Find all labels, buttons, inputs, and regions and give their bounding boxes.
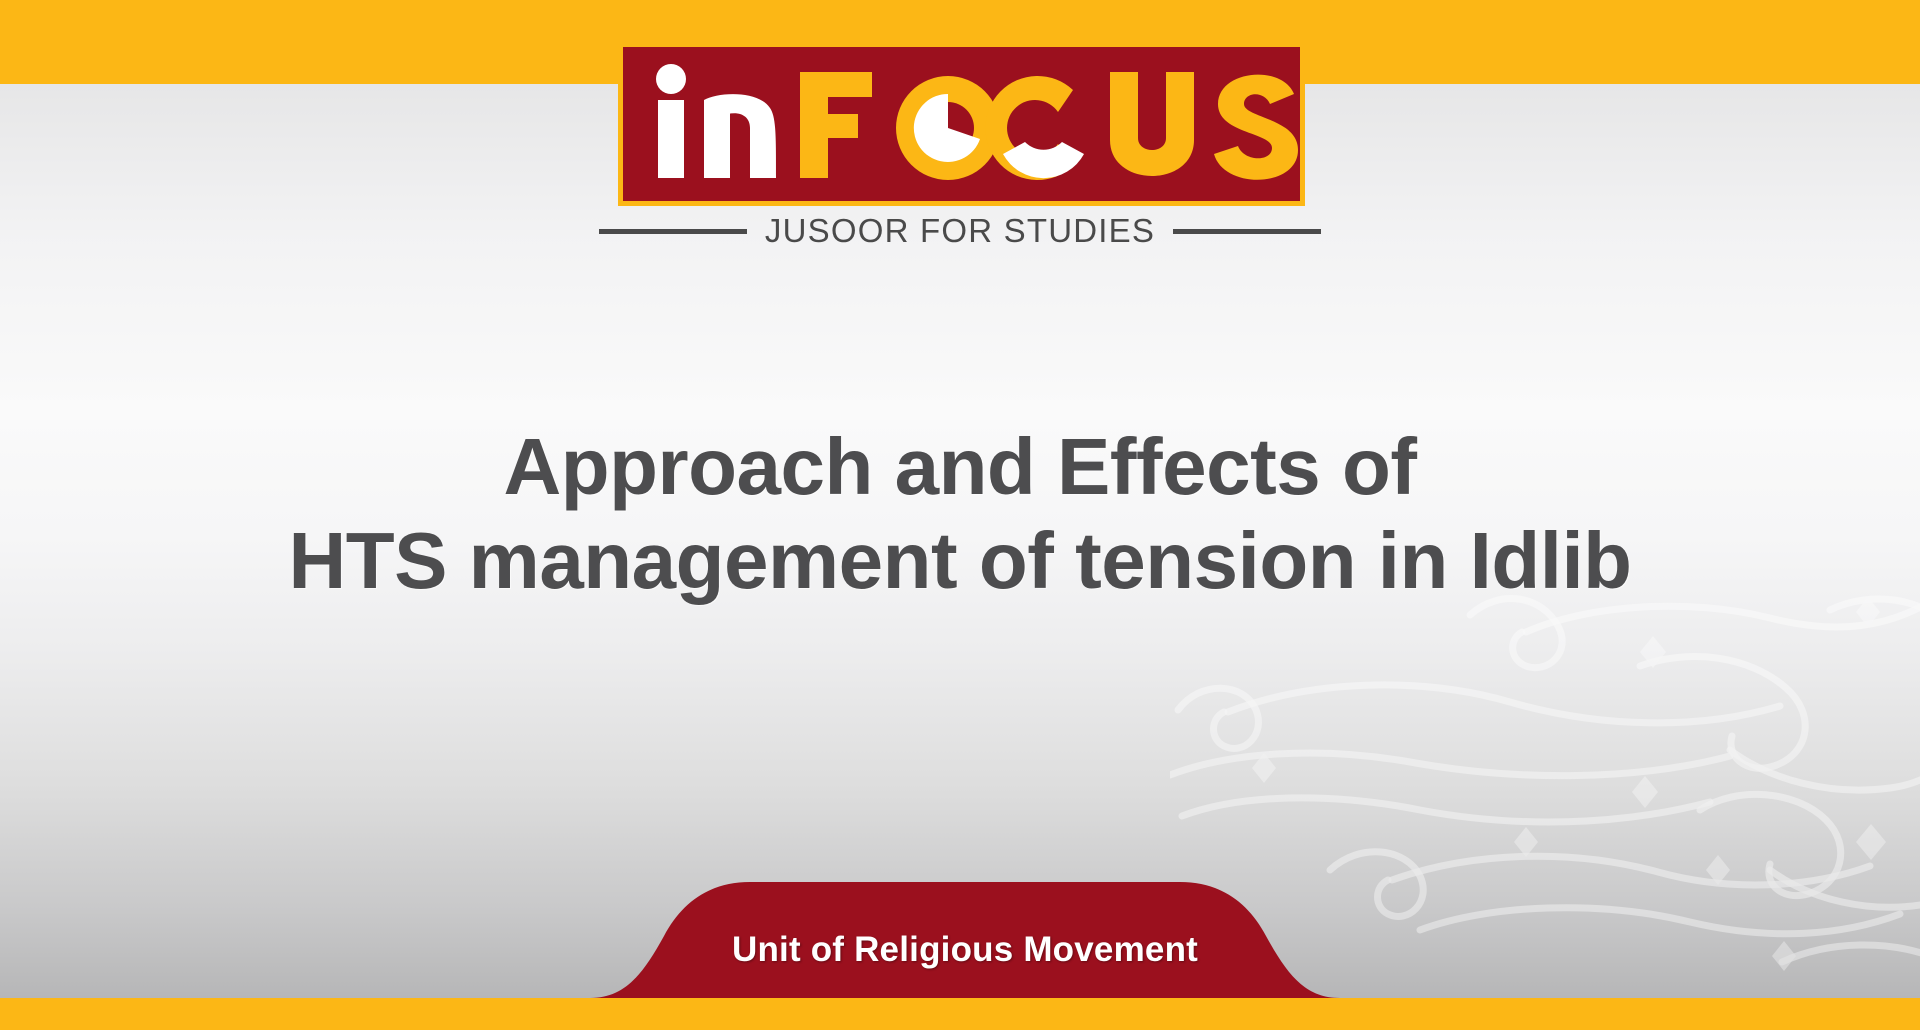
logo-letter-s [1214, 75, 1298, 180]
tagline-rule-right [1173, 229, 1321, 234]
banner-label: Unit of Religious Movement [590, 930, 1340, 970]
unit-banner: Unit of Religious Movement [590, 880, 1340, 998]
page-title: Approach and Effects of HTS management o… [0, 420, 1920, 609]
title-line-2: HTS management of tension in Idlib [0, 514, 1920, 608]
tagline: JUSOOR FOR STUDIES [0, 212, 1920, 250]
tagline-rule-left [599, 229, 747, 234]
logo-text-in [656, 64, 776, 178]
tagline-text: JUSOOR FOR STUDIES [765, 212, 1155, 250]
infocus-logo [618, 42, 1305, 206]
bottom-accent-band [0, 998, 1920, 1030]
slide-canvas: JUSOOR FOR STUDIES Approach and Effects … [0, 0, 1920, 1030]
title-line-1: Approach and Effects of [0, 420, 1920, 514]
logo-letter-c [986, 76, 1084, 180]
logo-letter-u [1110, 72, 1194, 176]
logo-wordmark [618, 42, 1305, 206]
logo-letter-f [800, 72, 872, 178]
